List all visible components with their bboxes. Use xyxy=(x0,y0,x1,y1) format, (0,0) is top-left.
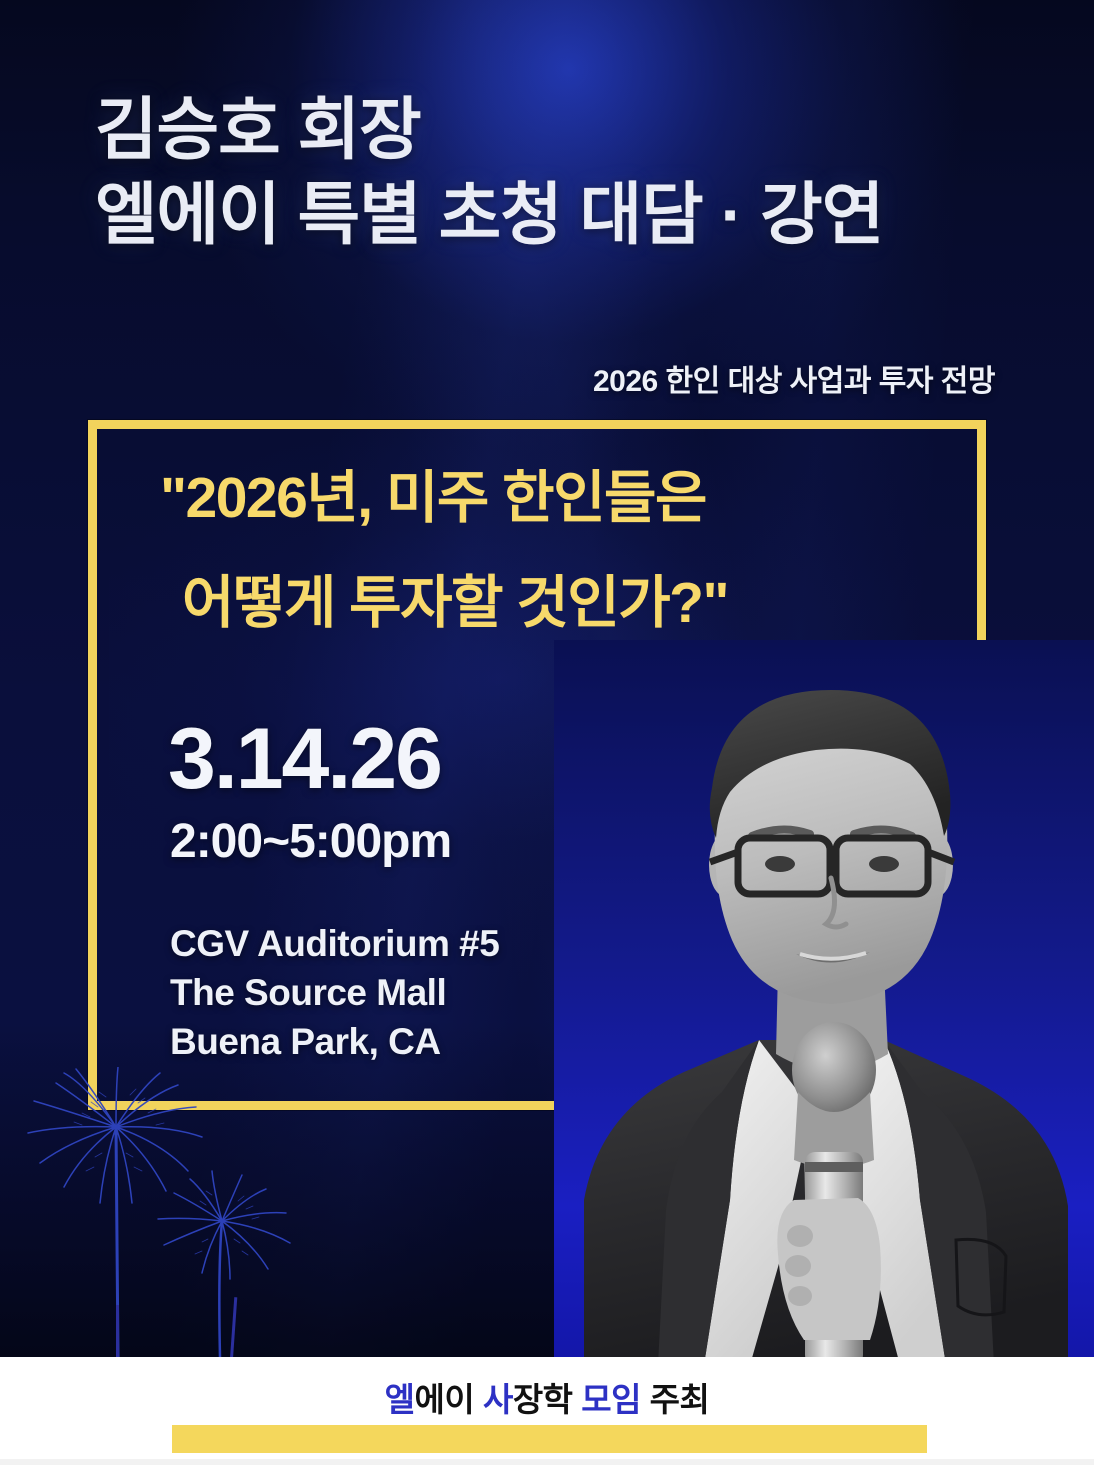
footer-band: 엘에이 사장학 모임 주최 xyxy=(0,1357,1094,1465)
knuckle-3 xyxy=(788,1286,812,1306)
footer-seg-1: 엘 xyxy=(385,1381,415,1418)
poster-subtitle: 2026 한인 대상 사업과 투자 전망 xyxy=(95,356,1017,400)
footer-seg-6: 주최 xyxy=(650,1381,710,1418)
poster-title-block: 김승호 회장 엘에이 특별 초청 대담 · 강연 2026 한인 대상 사업과 … xyxy=(95,88,995,258)
footer-seg-5: 모임 xyxy=(581,1381,649,1418)
quote-block: "2026년, 미주 한인들은 어떻게 투자할 것인가?" xyxy=(160,470,900,632)
footer-seg-4: 장학 xyxy=(513,1381,581,1418)
speaker-portrait-illustration xyxy=(554,640,1094,1365)
venue-line-2: The Source Mall xyxy=(170,969,600,1018)
footer-seg-2: 에이 xyxy=(415,1381,483,1418)
footer-baseline xyxy=(0,1459,1094,1465)
quote-line-1: "2026년, 미주 한인들은 xyxy=(160,470,900,527)
event-poster: 김승호 회장 엘에이 특별 초청 대담 · 강연 2026 한인 대상 사업과 … xyxy=(0,0,1094,1465)
venue-line-1: CGV Auditorium #5 xyxy=(170,920,600,969)
footer-yellow-bar xyxy=(172,1425,927,1453)
footer-seg-3: 사 xyxy=(483,1381,513,1418)
knuckle-2 xyxy=(785,1255,811,1277)
title-line-1: 김승호 회장 xyxy=(95,88,995,173)
event-time: 2:00~5:00pm xyxy=(170,818,451,866)
speaker-photo xyxy=(554,640,1094,1365)
knuckle-1 xyxy=(787,1225,813,1247)
footer-organizer-text: 엘에이 사장학 모임 주최 xyxy=(0,1373,1094,1421)
event-date: 3.14.26 xyxy=(168,716,441,802)
eye-left xyxy=(765,856,795,872)
quote-line-2: 어떻게 투자할 것인가?" xyxy=(160,575,900,632)
event-venue: CGV Auditorium #5 The Source Mall Buena … xyxy=(170,920,600,1066)
venue-line-3: Buena Park, CA xyxy=(170,1018,600,1067)
title-line-2: 엘에이 특별 초청 대담 · 강연 xyxy=(95,173,995,258)
eye-right xyxy=(869,856,899,872)
